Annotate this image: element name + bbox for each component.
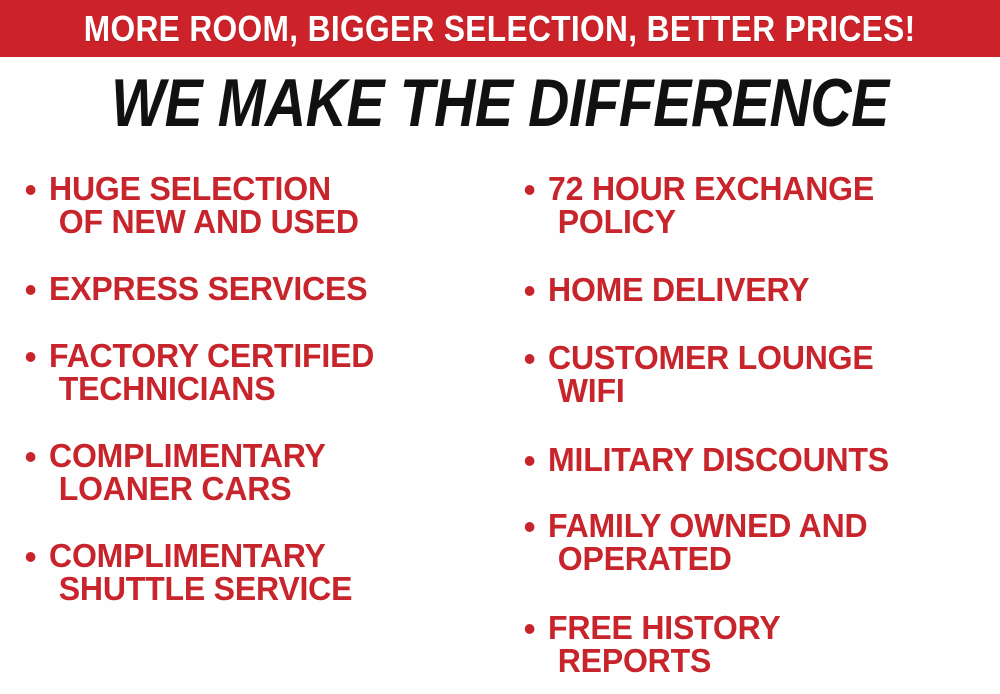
bullet-dot-icon xyxy=(525,522,535,532)
bullet-dot-icon xyxy=(525,185,535,195)
benefits-columns: HUGE SELECTION OF NEW AND USED EXPRESS S… xyxy=(0,150,1000,694)
list-item: CUSTOMER LOUNGE WIFI xyxy=(517,341,986,407)
list-item: 72 HOUR EXCHANGE POLICY xyxy=(517,172,986,238)
benefits-column-right: 72 HOUR EXCHANGE POLICY HOME DELIVERY CU… xyxy=(517,150,1000,677)
list-item-line2: LOANER CARS xyxy=(49,472,484,505)
list-item-line1: COMPLIMENTARY xyxy=(49,539,484,572)
list-item-line1: EXPRESS SERVICES xyxy=(49,272,484,305)
list-item-line1: FACTORY CERTIFIED xyxy=(49,339,484,372)
list-item-line1: FAMILY OWNED AND xyxy=(548,509,985,542)
bullet-dot-icon xyxy=(525,286,535,296)
list-item: MILITARY DISCOUNTS xyxy=(517,443,986,476)
list-item-line2: WIFI xyxy=(548,374,985,407)
list-item-line1: MILITARY DISCOUNTS xyxy=(548,443,985,476)
list-item-line2: OF NEW AND USED xyxy=(49,205,484,238)
list-item-line2: OPERATED xyxy=(548,542,985,575)
page-title: WE MAKE THE DIFFERENCE xyxy=(111,69,889,137)
bullet-dot-icon xyxy=(26,452,36,462)
list-item-line1: 72 HOUR EXCHANGE xyxy=(548,172,985,205)
list-item-line1: HOME DELIVERY xyxy=(548,273,985,306)
list-item: COMPLIMENTARY LOANER CARS xyxy=(18,439,484,505)
advertisement-banner-page: MORE ROOM, BIGGER SELECTION, BETTER PRIC… xyxy=(0,0,1000,694)
list-item-line2: TECHNICIANS xyxy=(49,372,484,405)
bullet-dot-icon xyxy=(26,552,36,562)
bullet-dot-icon xyxy=(26,285,36,295)
top-promo-banner-text: MORE ROOM, BIGGER SELECTION, BETTER PRIC… xyxy=(84,11,916,47)
list-item-line1: COMPLIMENTARY xyxy=(49,439,484,472)
list-item: FAMILY OWNED AND OPERATED xyxy=(517,509,986,575)
list-item-line1: CUSTOMER LOUNGE xyxy=(548,341,985,374)
list-item: FACTORY CERTIFIED TECHNICIANS xyxy=(18,339,484,405)
list-item: EXPRESS SERVICES xyxy=(18,272,484,305)
list-item: FREE HISTORY REPORTS xyxy=(517,611,986,677)
benefits-column-left: HUGE SELECTION OF NEW AND USED EXPRESS S… xyxy=(18,150,498,605)
bullet-dot-icon xyxy=(26,185,36,195)
bullet-dot-icon xyxy=(525,624,535,634)
list-item-line1: HUGE SELECTION xyxy=(49,172,484,205)
bullet-dot-icon xyxy=(26,352,36,362)
list-item-line2: REPORTS xyxy=(548,644,985,677)
bullet-dot-icon xyxy=(525,456,535,466)
list-item: COMPLIMENTARY SHUTTLE SERVICE xyxy=(18,539,484,605)
bullet-dot-icon xyxy=(525,354,535,364)
list-item-line1: FREE HISTORY xyxy=(548,611,985,644)
list-item: HOME DELIVERY xyxy=(517,273,986,306)
top-promo-banner: MORE ROOM, BIGGER SELECTION, BETTER PRIC… xyxy=(0,0,1000,57)
headline-container: WE MAKE THE DIFFERENCE xyxy=(0,64,1000,142)
list-item: HUGE SELECTION OF NEW AND USED xyxy=(18,172,484,238)
list-item-line2: SHUTTLE SERVICE xyxy=(49,572,484,605)
list-item-line2: POLICY xyxy=(548,205,985,238)
